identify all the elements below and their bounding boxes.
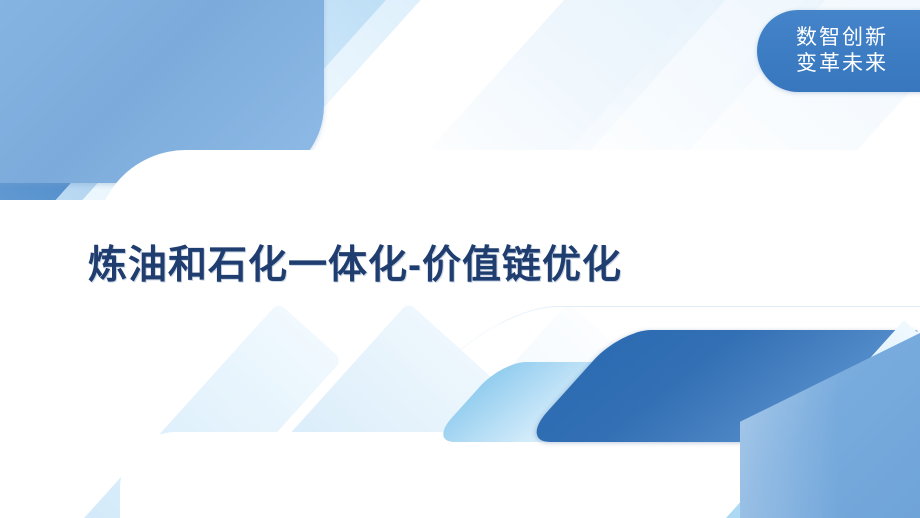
page-title: 炼油和石化一体化-价值链优化 [88, 234, 622, 290]
slogan-line-2: 变革未来 [796, 51, 888, 77]
slogan-badge: 数智创新 变革未来 [757, 10, 920, 92]
bottom-decoration-graphics [0, 300, 920, 518]
presentation-cover-slide: 数智创新 变革未来 炼油和石化一体化-价值链优化 [0, 0, 920, 518]
slogan-line-1: 数智创新 [796, 25, 888, 51]
